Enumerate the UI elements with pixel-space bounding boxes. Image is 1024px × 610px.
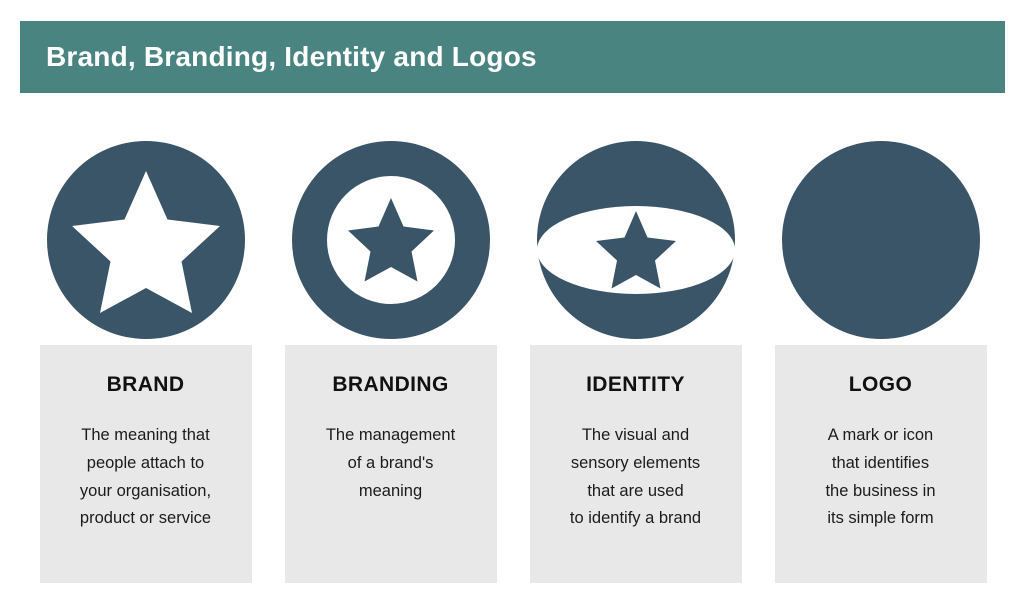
concept-card: IDENTITY The visual and sensory elements… [530,345,742,583]
solid-circle-icon [782,141,980,339]
card-title: BRAND [50,373,242,396]
header-bar: Brand, Branding, Identity and Logos [20,21,1005,93]
card-body: A mark or icon that identifies the busin… [785,422,977,533]
card-body: The management of a brand's meaning [295,422,487,505]
page-title: Brand, Branding, Identity and Logos [46,41,537,73]
concept-column-logo: LOGO A mark or icon that identifies the … [758,120,1003,590]
card-title: IDENTITY [540,373,732,396]
filled-star-circle-icon [47,141,245,339]
concept-column-brand: BRAND The meaning that people attach to … [23,120,268,590]
concept-column-branding: BRANDING The management of a brand's mea… [268,120,513,590]
concept-columns: BRAND The meaning that people attach to … [0,120,1024,590]
card-title: LOGO [785,373,977,396]
card-body: The meaning that people attach to your o… [50,422,242,533]
concept-column-identity: IDENTITY The visual and sensory elements… [513,120,758,590]
ring-star-circle-icon [292,141,490,339]
card-title: BRANDING [295,373,487,396]
concept-card: BRANDING The management of a brand's mea… [285,345,497,583]
concept-card: LOGO A mark or icon that identifies the … [775,345,987,583]
concept-card: BRAND The meaning that people attach to … [40,345,252,583]
ellipse-star-circle-icon [537,141,735,339]
card-body: The visual and sensory elements that are… [540,422,732,533]
